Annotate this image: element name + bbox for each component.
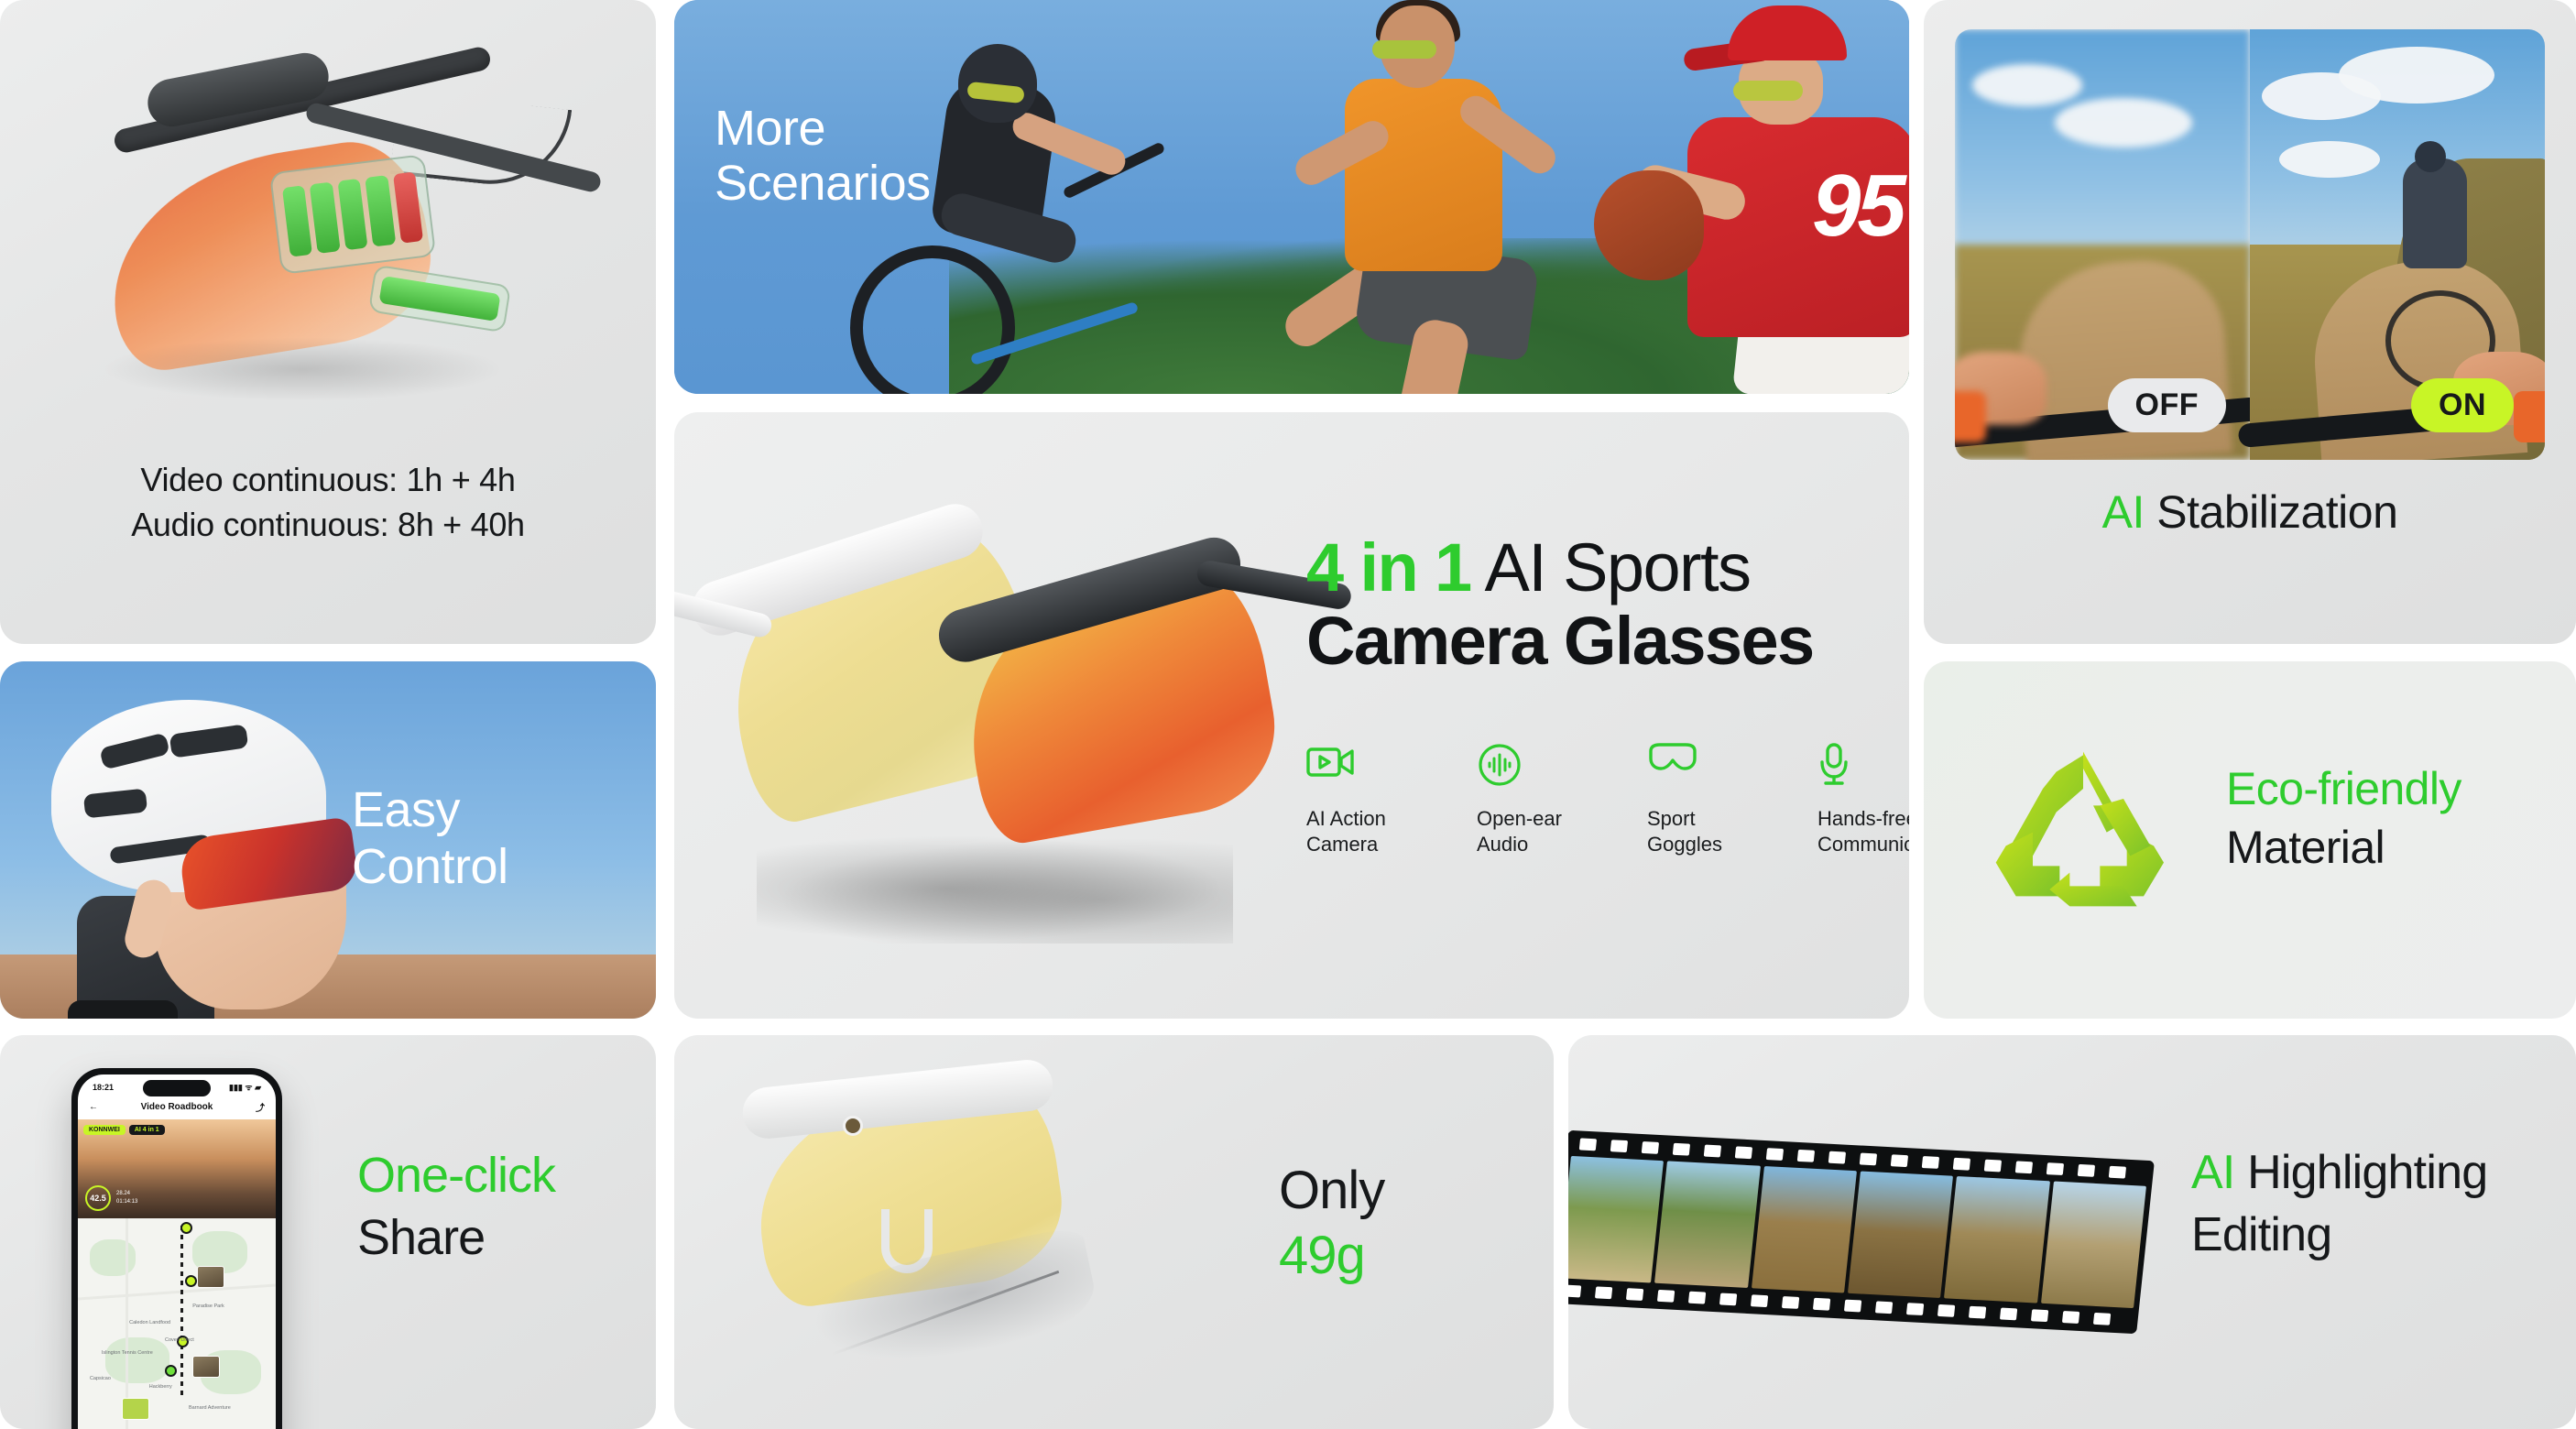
stabilization-comparison-image: OFF ON [1955, 29, 2545, 460]
hero-copy: 4 in 1 AI Sports Camera Glasses [1306, 531, 1883, 678]
hero-glasses-image [702, 449, 1288, 962]
product-feature-grid: Video continuous: 1h + 4h Audio continuo… [0, 0, 2576, 1429]
film-frame [1752, 1166, 1857, 1293]
share-line1: One-click [357, 1147, 555, 1204]
smartphone-mockup: 18:21 ▮▮▮ ᯤ ▰ ← Video Roadbook ⤴ KONNWEI… [71, 1068, 282, 1429]
ai-highlighting-editing-card: AI Highlighting Editing [1568, 1035, 2576, 1429]
audio-runtime-text: Audio continuous: 8h + 40h [0, 503, 656, 548]
route-node [185, 1275, 197, 1287]
microphone-icon [1817, 742, 1909, 791]
feature-label-line1: AI Action [1306, 806, 1425, 832]
weight-card: Only 49g [674, 1035, 1554, 1429]
film-strip-graphic [1568, 1130, 2155, 1335]
dynamic-island [143, 1080, 211, 1096]
weight-copy: Only 49g [1279, 1160, 1384, 1286]
film-frame [1944, 1176, 2049, 1304]
brand-badge: KONNWEI [83, 1125, 126, 1135]
film-frame [1568, 1156, 1664, 1283]
editing-copy: AI Highlighting Editing [2191, 1145, 2487, 1262]
route-path [180, 1226, 183, 1400]
feature-label-line1: Sport [1647, 806, 1766, 832]
battery-cell [337, 179, 367, 250]
jersey-cuff [2514, 391, 2545, 442]
map-label: Paradise Park [192, 1304, 224, 1309]
film-frame [1654, 1161, 1760, 1288]
route-start-node [180, 1222, 192, 1234]
editing-line1-rest: Highlighting [2235, 1146, 2488, 1199]
eco-copy: Eco-friendly Material [2226, 762, 2461, 874]
map-label: Islington Tennis Centre [102, 1350, 153, 1356]
feature-ai-action-camera: AI Action Camera [1306, 742, 1425, 857]
hero-title: 4 in 1 AI Sports [1306, 531, 1883, 605]
route-video-thumbnail[interactable]: KONNWEI AI 4 in 1 42.5 28.24 01:14:13 [78, 1119, 276, 1218]
map-label: Coven Direct [165, 1337, 194, 1343]
more-scenarios-card: 95 More Scenarios [674, 0, 1909, 394]
route-clip-thumbnail [197, 1266, 224, 1288]
stabilization-on-badge: ON [2411, 378, 2514, 432]
feature-label-line2: Communication [1817, 832, 1909, 857]
share-copy: One-click Share [357, 1147, 555, 1266]
recycling-icon [1982, 738, 2184, 940]
feature-label: Sport Goggles [1647, 806, 1766, 857]
goggles-icon [1647, 742, 1766, 791]
video-camera-icon [1306, 742, 1425, 791]
feature-label-line1: Hands-free [1817, 806, 1909, 832]
app-title: Video Roadbook [141, 1102, 213, 1112]
feature-label: AI Action Camera [1306, 806, 1425, 857]
stabilization-caption: AI Stabilization [1924, 485, 2576, 539]
stabilization-caption-rest: Stabilization [2145, 486, 2398, 538]
comparison-half-on: ON [2250, 29, 2545, 460]
runner-glasses [1372, 40, 1436, 59]
one-click-share-card: 18:21 ▮▮▮ ᯤ ▰ ← Video Roadbook ⤴ KONNWEI… [0, 1035, 656, 1429]
feature-label-line2: Goggles [1647, 832, 1766, 857]
hero-title-rest: AI Sports [1471, 529, 1751, 605]
easy-control-title: Easy Control [352, 782, 508, 895]
feature-hands-free-communication: Hands-free Communication [1817, 742, 1909, 857]
weight-value: 49g [1279, 1225, 1384, 1286]
lead-rider [2403, 158, 2467, 268]
stabilization-off-badge: OFF [2108, 378, 2226, 432]
battery-caption: Video continuous: 1h + 4h Audio continuo… [0, 458, 656, 547]
hero-title-accent: 4 in 1 [1306, 529, 1471, 605]
stabilization-caption-accent: AI [2102, 486, 2145, 538]
feature-label: Hands-free Communication [1817, 806, 1909, 857]
feature-sport-goggles: Sport Goggles [1647, 742, 1766, 857]
baseball-glove [1594, 170, 1704, 280]
scenarios-title: More Scenarios [715, 101, 931, 212]
share-line2: Share [357, 1209, 555, 1266]
sport-watch [68, 1000, 178, 1019]
duration-value: 01:14:13 [116, 1199, 137, 1205]
film-frame [1848, 1171, 1953, 1298]
ai-stabilization-card: OFF ON AI Stabilization [1924, 0, 2576, 644]
camera-lens [843, 1116, 863, 1136]
weight-line1: Only [1279, 1160, 1384, 1221]
phone-screen: 18:21 ▮▮▮ ᯤ ▰ ← Video Roadbook ⤴ KONNWEI… [78, 1074, 276, 1429]
black-glasses [949, 562, 1288, 848]
eco-line1: Eco-friendly [2226, 762, 2461, 815]
jersey-number: 95 [1812, 156, 1903, 256]
distance-value: 28.24 [116, 1191, 130, 1196]
hero-title-line2: Camera Glasses [1306, 605, 1883, 678]
battery-cell-red [393, 171, 423, 243]
battery-life-card: Video continuous: 1h + 4h Audio continuo… [0, 0, 656, 644]
bike-wheel [850, 245, 1015, 394]
speed-value: 42.5 [85, 1185, 111, 1211]
player-cap [1728, 5, 1847, 60]
feature-icon-row: AI Action Camera [1306, 742, 1909, 857]
easy-control-line2: Control [352, 839, 508, 896]
battery-pack [269, 154, 436, 275]
runner-photo [1242, 0, 1627, 394]
baseball-player-photo: 95 [1599, 0, 1909, 394]
product-shadow [757, 834, 1233, 944]
comparison-half-off: OFF [1955, 29, 2250, 460]
scenarios-title-line1: More [715, 101, 931, 156]
feature-label: Open-ear Audio [1477, 806, 1596, 857]
eco-friendly-card: Eco-friendly Material [1924, 661, 2576, 1019]
share-icon[interactable]: ⤴ [256, 1100, 265, 1114]
battery-cell [310, 181, 340, 253]
route-clip-thumbnail [192, 1356, 220, 1378]
route-current-node [165, 1365, 177, 1377]
meta-badge: AI 4 in 1 [129, 1125, 165, 1135]
map-label: Capsicao [90, 1376, 111, 1381]
easy-control-line1: Easy [352, 782, 508, 839]
editing-line2: Editing [2191, 1207, 2487, 1262]
eco-line2: Material [2226, 821, 2461, 874]
battery-cell [282, 185, 312, 256]
product-shadow [101, 337, 504, 401]
map-label: Caledon Landfood [129, 1320, 170, 1325]
status-icons: ▮▮▮ ᯤ ▰ [229, 1081, 261, 1093]
feature-label-line2: Camera [1306, 832, 1425, 857]
feature-label-line2: Audio [1477, 832, 1596, 857]
back-icon[interactable]: ← [89, 1102, 98, 1112]
video-runtime-text: Video continuous: 1h + 4h [0, 458, 656, 503]
thumbnail-badges: KONNWEI AI 4 in 1 [83, 1125, 165, 1135]
editing-line1-accent: AI [2191, 1146, 2235, 1199]
battery-cell [365, 175, 395, 246]
jersey-cuff [1955, 391, 1986, 442]
feature-open-ear-audio: Open-ear Audio [1477, 742, 1596, 857]
film-frame [2041, 1182, 2146, 1309]
player-glasses [1733, 81, 1803, 101]
status-time: 18:21 [93, 1083, 114, 1092]
map-label: Hackberry [149, 1384, 172, 1390]
feature-label-line1: Open-ear [1477, 806, 1596, 832]
audio-wave-icon [1477, 742, 1596, 791]
route-clip-play [122, 1398, 149, 1420]
map-label: Barnard Adventure [189, 1405, 231, 1411]
route-map[interactable]: Caledon Landfood Paradise Park Islington… [78, 1218, 276, 1429]
scenarios-title-line2: Scenarios [715, 156, 931, 211]
app-header: ← Video Roadbook ⤴ [78, 1095, 276, 1119]
glasses-battery-illustration [0, 0, 656, 458]
hero-product-card: 4 in 1 AI Sports Camera Glasses AI Actio… [674, 412, 1909, 1019]
stat-values: 28.24 01:14:13 [116, 1190, 137, 1206]
editing-line1: AI Highlighting [2191, 1145, 2487, 1200]
easy-control-card: Easy Control [0, 661, 656, 1019]
ride-stats: 42.5 28.24 01:14:13 [85, 1185, 137, 1211]
